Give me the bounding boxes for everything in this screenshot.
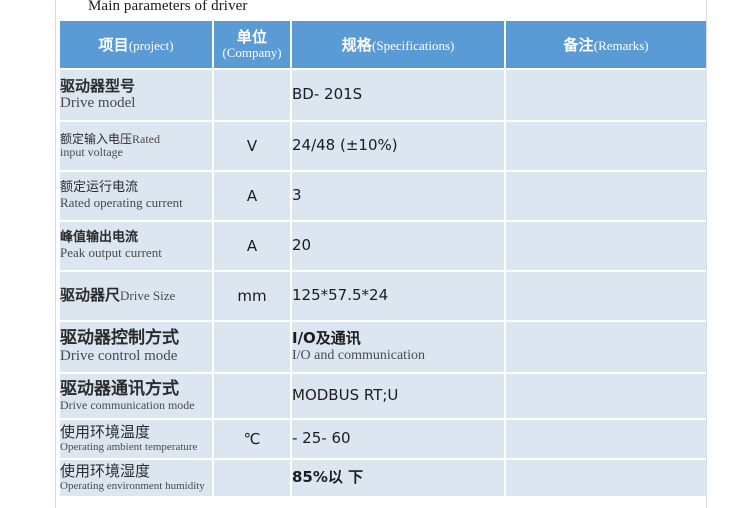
row-item-drive-control-mode: 驱动器控制方式 Drive control mode (60, 322, 212, 372)
spec-value: - 25- 60 (292, 430, 504, 447)
table-row: 峰值输出电流 Peak output current A 20 (60, 222, 706, 270)
spec-value: 85%以 下 (292, 469, 504, 486)
row-remarks-drive-control-mode (506, 322, 706, 372)
row-spec-peak-output-current: 20 (292, 222, 504, 270)
item-label-en: input voltage (60, 146, 212, 159)
row-item-drive-size: 驱动器尺Drive Size (60, 272, 212, 320)
column-header-project: 项目(project) (60, 21, 212, 68)
column-header-unit-cn: 单位 (214, 29, 290, 45)
row-item-rated-input-voltage: 额定输入电压Rated input voltage (60, 122, 212, 170)
spec-value: 125*57.5*24 (292, 287, 504, 304)
table-header-row: 项目(project) 单位 (Company) 规格(Specificatio… (60, 21, 706, 68)
row-item-rated-operating-current: 额定运行电流 Rated operating current (60, 172, 212, 220)
item-label-cn: 驱动器控制方式 (60, 329, 212, 348)
spec-value-sub: I/O and communication (292, 348, 504, 364)
item-label-en: Operating ambient temperature (60, 441, 212, 453)
item-label-en: Drive model (60, 95, 212, 112)
item-label-cn: 峰值输出电流 (60, 231, 212, 246)
row-remarks-rated-input-voltage (506, 122, 706, 170)
table-row: 使用环境湿度 Operating environment humidity 85… (60, 460, 706, 496)
row-unit-drive-size: mm (214, 272, 290, 320)
item-label-en: Rated operating current (60, 196, 212, 211)
row-item-drive-model: 驱动器型号 Drive model (60, 70, 212, 120)
table-row: 额定输入电压Rated input voltage V 24/48 (±10%) (60, 122, 706, 170)
column-header-project-cn: 项目 (98, 36, 128, 54)
item-label-en: Operating environment humidity (60, 480, 212, 492)
spec-value: 20 (292, 237, 504, 254)
row-remarks-peak-output-current (506, 222, 706, 270)
item-label-cn: 驱动器通讯方式 (60, 380, 212, 399)
row-spec-drive-communication-mode: MODBUS RT;U (292, 374, 504, 418)
spec-value: MODBUS RT;U (292, 387, 504, 404)
column-header-specifications-en: (Specifications) (372, 38, 454, 53)
row-unit-operating-environment-humidity (214, 460, 290, 496)
item-label-cn: 使用环境湿度 (60, 463, 212, 480)
spec-value: BD- 201S (292, 86, 504, 103)
column-header-remarks-en: (Remarks) (594, 38, 649, 53)
item-label-en: Drive control mode (60, 348, 212, 365)
spec-value: 24/48 (±10%) (292, 137, 504, 154)
item-label-cn: 额定输入电压Rated (60, 133, 212, 146)
row-item-peak-output-current: 峰值输出电流 Peak output current (60, 222, 212, 270)
table-row: 驱动器通讯方式 Drive communication mode MODBUS … (60, 374, 706, 418)
item-label-en: Peak output current (60, 246, 212, 261)
row-item-operating-ambient-temperature: 使用环境温度 Operating ambient temperature (60, 420, 212, 458)
page-title: Main parameters of driver (88, 0, 248, 15)
row-remarks-drive-model (506, 70, 706, 120)
column-header-specifications: 规格(Specifications) (292, 21, 504, 68)
row-unit-rated-input-voltage: V (214, 122, 290, 170)
row-unit-drive-communication-mode (214, 374, 290, 418)
row-spec-rated-operating-current: 3 (292, 172, 504, 220)
row-spec-drive-size: 125*57.5*24 (292, 272, 504, 320)
table-row: 驱动器型号 Drive model BD- 201S (60, 70, 706, 120)
table-row: 驱动器尺Drive Size mm 125*57.5*24 (60, 272, 706, 320)
row-spec-drive-model: BD- 201S (292, 70, 504, 120)
table-row: 使用环境温度 Operating ambient temperature ℃ -… (60, 420, 706, 458)
row-unit-operating-ambient-temperature: ℃ (214, 420, 290, 458)
table-row: 驱动器控制方式 Drive control mode I/O及通讯 I/O an… (60, 322, 706, 372)
column-header-unit-en: (Company) (214, 46, 290, 60)
row-spec-operating-ambient-temperature: - 25- 60 (292, 420, 504, 458)
row-unit-peak-output-current: A (214, 222, 290, 270)
column-header-remarks-cn: 备注 (563, 36, 593, 54)
row-item-operating-environment-humidity: 使用环境湿度 Operating environment humidity (60, 460, 212, 496)
column-header-remarks: 备注(Remarks) (506, 21, 706, 68)
item-label-en: Drive communication mode (60, 399, 212, 412)
spec-value: 3 (292, 187, 504, 204)
driver-parameters-table: 项目(project) 单位 (Company) 规格(Specificatio… (58, 19, 708, 498)
row-spec-drive-control-mode: I/O及通讯 I/O and communication (292, 322, 504, 372)
row-item-drive-communication-mode: 驱动器通讯方式 Drive communication mode (60, 374, 212, 418)
row-spec-rated-input-voltage: 24/48 (±10%) (292, 122, 504, 170)
table-body: 驱动器型号 Drive model BD- 201S 额定输入电压Rated i… (60, 70, 706, 496)
row-unit-drive-model (214, 70, 290, 120)
item-label-cn: 使用环境温度 (60, 424, 212, 441)
column-header-project-en: (project) (129, 38, 174, 53)
item-label-cn: 驱动器型号 (60, 78, 212, 95)
column-header-unit: 单位 (Company) (214, 21, 290, 68)
row-unit-rated-operating-current: A (214, 172, 290, 220)
column-header-specifications-cn: 规格 (342, 36, 372, 54)
row-remarks-drive-communication-mode (506, 374, 706, 418)
item-label-cn: 驱动器尺 (60, 286, 120, 304)
row-remarks-rated-operating-current (506, 172, 706, 220)
row-remarks-drive-size (506, 272, 706, 320)
table-row: 额定运行电流 Rated operating current A 3 (60, 172, 706, 220)
spec-value: I/O及通讯 (292, 330, 504, 347)
item-label-en: Drive Size (120, 288, 175, 303)
row-unit-drive-control-mode (214, 322, 290, 372)
left-margin-rule (55, 0, 56, 508)
row-remarks-operating-environment-humidity (506, 460, 706, 496)
table-header: 项目(project) 单位 (Company) 规格(Specificatio… (60, 21, 706, 68)
row-remarks-operating-ambient-temperature (506, 420, 706, 458)
item-label-cn: 额定运行电流 (60, 181, 212, 196)
row-spec-operating-environment-humidity: 85%以 下 (292, 460, 504, 496)
